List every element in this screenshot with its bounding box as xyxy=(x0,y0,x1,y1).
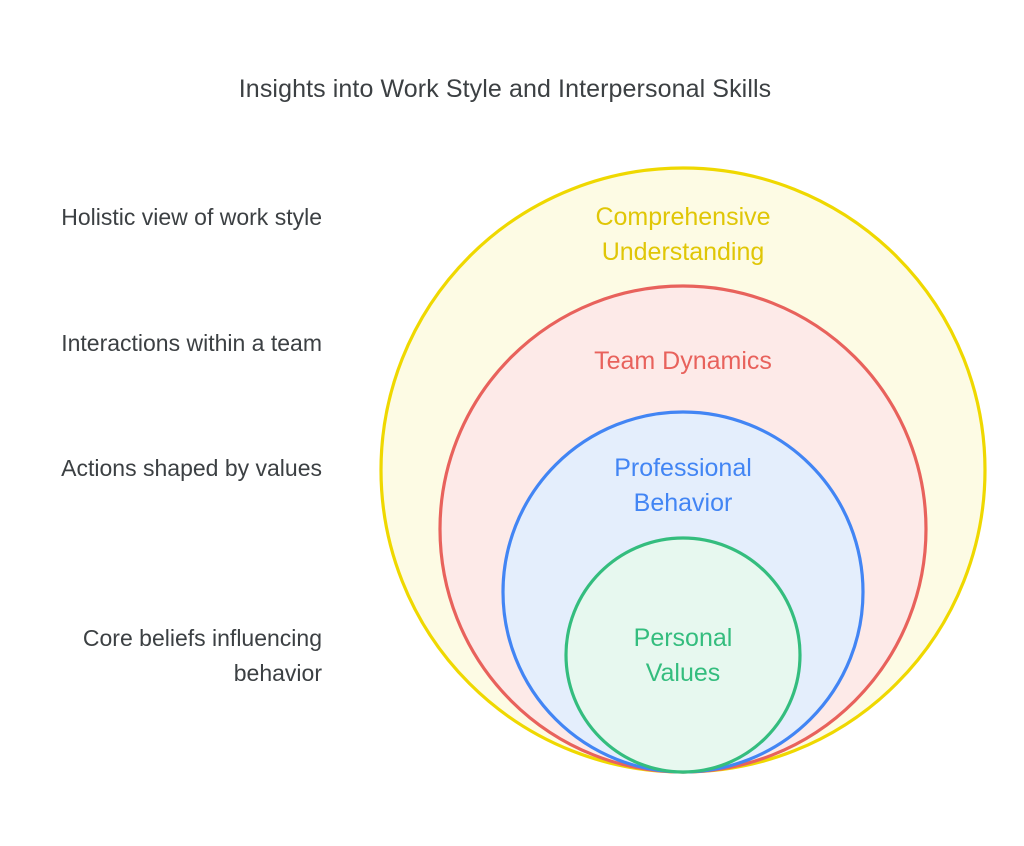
circle-personal-values xyxy=(566,538,800,772)
diagram-canvas: Insights into Work Style and Interperson… xyxy=(0,0,1024,846)
concentric-circles-diagram xyxy=(0,0,1024,846)
